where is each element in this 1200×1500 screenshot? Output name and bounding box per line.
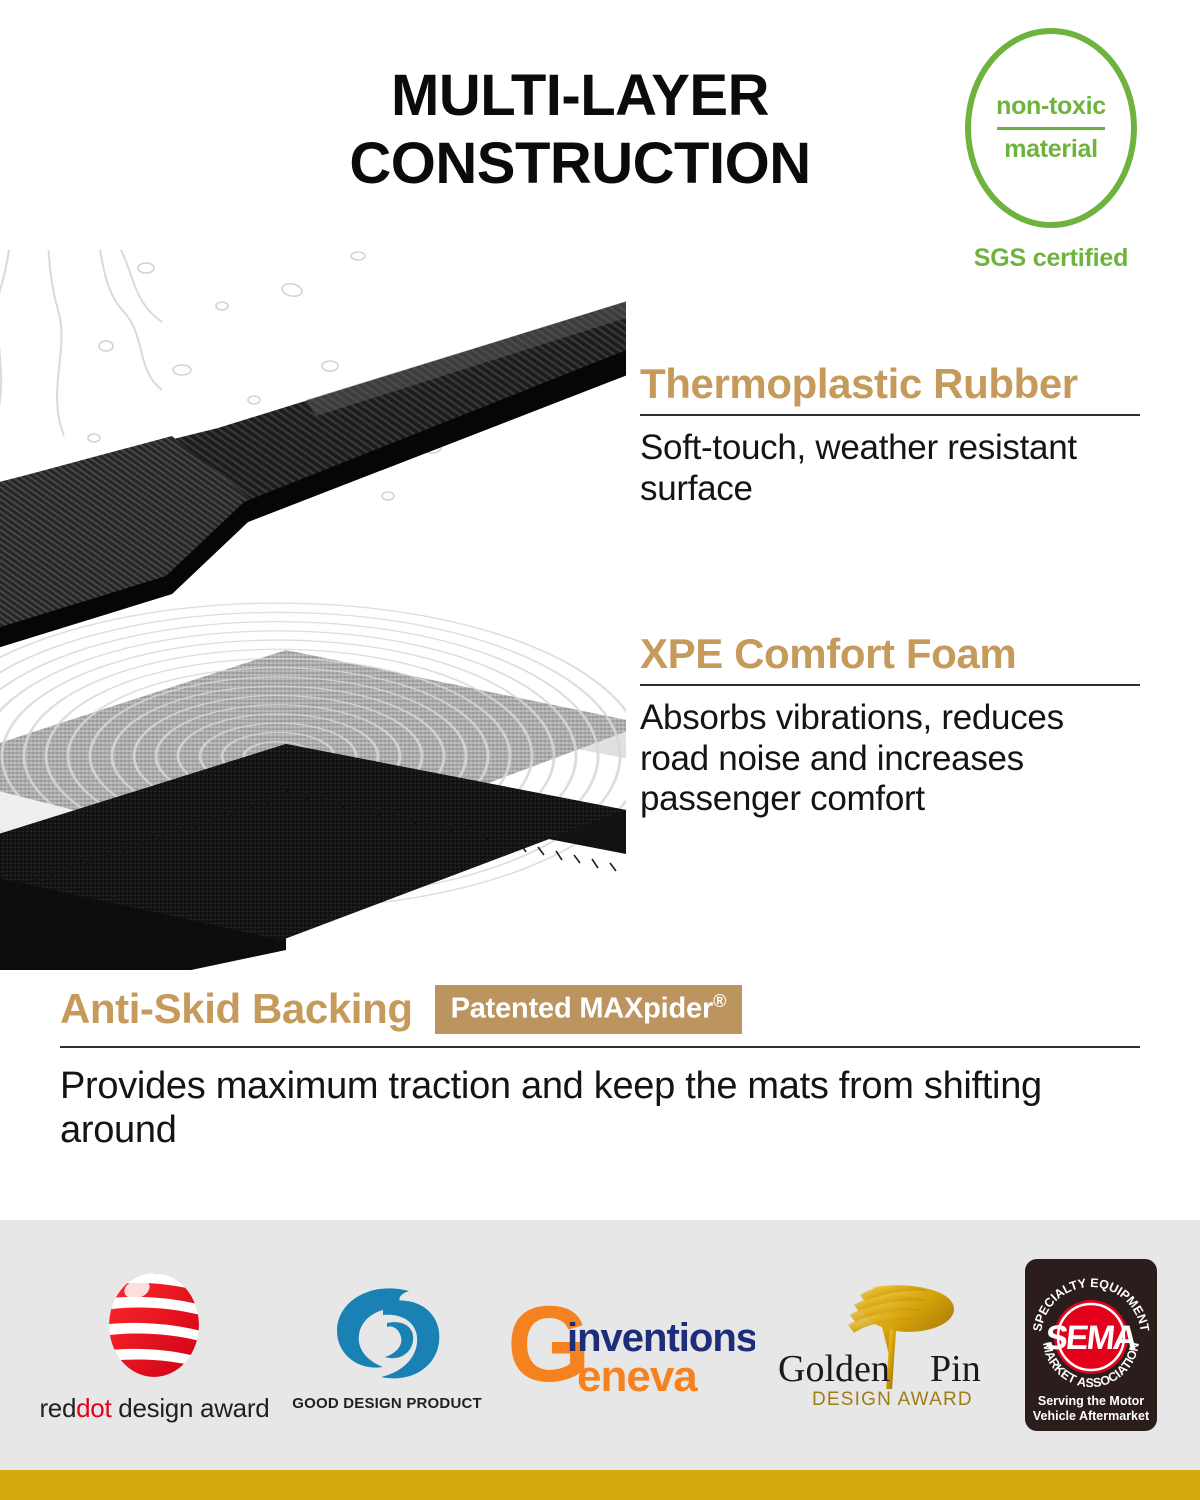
patented-maxpider-badge: Patented MAXpider® [435, 985, 743, 1034]
section-body: Soft-touch, weather resistant surface [640, 428, 1140, 509]
svg-text:eneva: eneva [577, 1352, 698, 1401]
award-logo-reddot: reddot design award [39, 1267, 269, 1424]
award-logo-inventions-geneva: G inventions eneva [505, 1287, 755, 1403]
award-logo-good-design: GOOD DESIGN PRODUCT [292, 1279, 482, 1412]
registered-trademark-icon: ® [713, 991, 726, 1011]
badge-circle-icon: non-toxic material [965, 28, 1137, 228]
page-title-line1: MULTI-LAYER [300, 62, 860, 130]
section-thermoplastic-rubber: Thermoplastic Rubber Soft-touch, weather… [640, 362, 1140, 509]
section-xpe-comfort-foam: XPE Comfort Foam Absorbs vibrations, red… [640, 632, 1140, 820]
award-logo-golden-pin: Golden Pin DESIGN AWARD [778, 1281, 998, 1409]
svg-text:Serving the Motor: Serving the Motor [1037, 1394, 1143, 1408]
awards-footer: reddot design award GOOD DESIGN PRODUCT … [0, 1220, 1200, 1470]
reddot-label: reddot design award [39, 1393, 269, 1424]
badge-line-1: non-toxic [996, 93, 1106, 121]
reddot-sphere-icon [89, 1267, 219, 1387]
infographic-page: MULTI-LAYER CONSTRUCTION non-toxic mater… [0, 0, 1200, 1500]
section-heading: Anti-Skid Backing [60, 987, 413, 1031]
bottom-accent-bar [0, 1470, 1200, 1500]
section-heading: XPE Comfort Foam [640, 632, 1140, 676]
award-logo-sema: SPECIALTY EQUIPMENT MARKET ASSOCIATION S… [1021, 1257, 1161, 1433]
svg-text:Vehicle Aftermarket: Vehicle Aftermarket [1032, 1409, 1149, 1423]
svg-text:Golden: Golden [778, 1348, 890, 1390]
section-divider [60, 1046, 1140, 1048]
badge-line-2: material [1004, 136, 1098, 164]
layer-thermoplastic-rubber [0, 278, 626, 670]
good-design-gd-icon [323, 1279, 451, 1391]
section-divider [640, 684, 1140, 686]
section-divider [640, 414, 1140, 416]
non-toxic-badge: non-toxic material SGS certified [958, 28, 1144, 273]
section-heading: Thermoplastic Rubber [640, 362, 1140, 406]
page-title-line2: CONSTRUCTION [300, 130, 860, 198]
section-anti-skid-backing: Anti-Skid Backing Patented MAXpider® Pro… [60, 985, 1140, 1152]
badge-divider [997, 127, 1105, 130]
sgs-certified-label: SGS certified [958, 244, 1144, 273]
page-title: MULTI-LAYER CONSTRUCTION [300, 62, 860, 198]
svg-text:SEMA: SEMA [1043, 1319, 1139, 1357]
svg-text:DESIGN AWARD: DESIGN AWARD [812, 1389, 973, 1409]
patented-maxpider-label: Patented MAXpider [451, 993, 713, 1025]
golden-pin-icon: Golden Pin DESIGN AWARD [778, 1281, 998, 1409]
inventions-geneva-icon: G inventions eneva [505, 1287, 755, 1403]
sema-icon: SPECIALTY EQUIPMENT MARKET ASSOCIATION S… [1021, 1257, 1161, 1433]
product-layers-image [0, 250, 626, 970]
good-design-label: GOOD DESIGN PRODUCT [292, 1395, 482, 1412]
section-body: Provides maximum traction and keep the m… [60, 1064, 1130, 1152]
water-splash-icon [0, 250, 162, 440]
svg-text:Pin: Pin [930, 1348, 981, 1390]
section-body: Absorbs vibrations, reduces road noise a… [640, 698, 1140, 820]
